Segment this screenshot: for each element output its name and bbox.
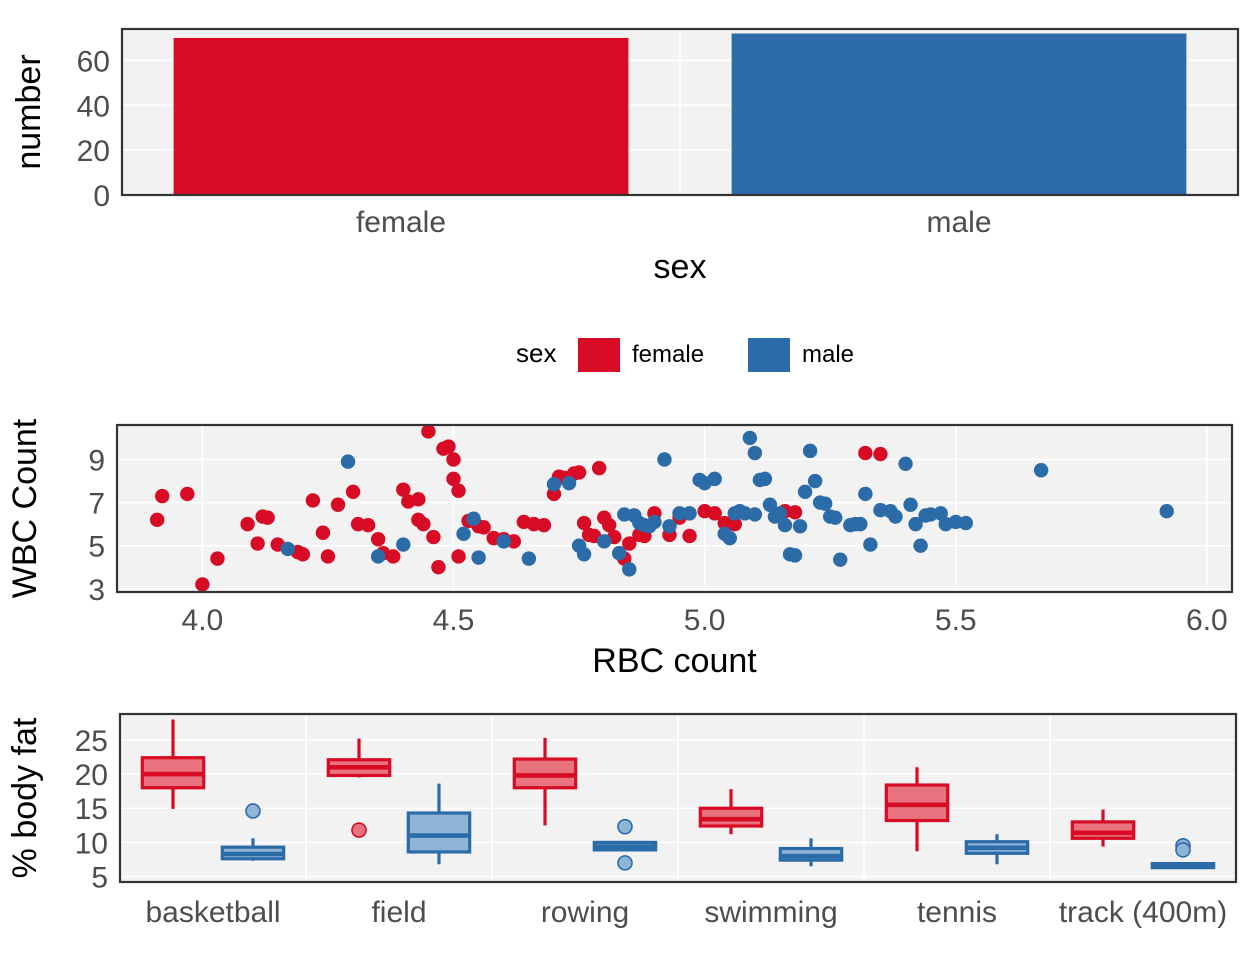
- scatter-x-axis-title: RBC count: [592, 642, 757, 680]
- scatter-point: [321, 549, 335, 563]
- scatter-point: [853, 517, 867, 531]
- scatter-point: [281, 542, 295, 556]
- scatter-point: [913, 538, 927, 552]
- scatter-point: [707, 472, 721, 486]
- scatter-point: [180, 487, 194, 501]
- scatter-point: [858, 487, 872, 501]
- scatter-point: [959, 516, 973, 530]
- scatter-point: [647, 515, 661, 529]
- scatter-point: [150, 513, 164, 527]
- bar-ytick-40: 40: [77, 90, 110, 123]
- scatter-point: [441, 439, 455, 453]
- scatter-point: [396, 537, 410, 551]
- scatter-chart-panel: 35794.04.55.05.56.0WBC CountRBC count: [0, 395, 1248, 685]
- box-xtick-tennis: tennis: [917, 896, 997, 929]
- scatter-point: [828, 510, 842, 524]
- scatter-point: [316, 526, 330, 540]
- bar-chart-panel: femalemale0204060numbersex: [0, 0, 1248, 290]
- scatter-point: [1160, 504, 1174, 518]
- legend-label-male: male: [802, 341, 854, 368]
- scatter-point: [1034, 463, 1048, 477]
- scatter-point: [371, 532, 385, 546]
- scatter-point: [682, 529, 696, 543]
- scatter-xtick-6.0: 6.0: [1186, 604, 1228, 637]
- scatter-point: [562, 476, 576, 490]
- box-xtick-rowing: rowing: [541, 896, 629, 929]
- scatter-xtick-5.0: 5.0: [684, 604, 726, 637]
- scatter-point: [416, 517, 430, 531]
- scatter-point: [803, 444, 817, 458]
- scatter-point: [331, 498, 345, 512]
- scatter-point: [240, 517, 254, 531]
- scatter-point: [748, 446, 762, 460]
- scatter-point: [341, 454, 355, 468]
- box-outlier: [1176, 843, 1190, 857]
- scatter-point: [466, 512, 480, 526]
- scatter-point: [818, 496, 832, 510]
- scatter-point: [577, 547, 591, 561]
- scatter-point: [657, 452, 671, 466]
- scatter-point: [627, 508, 641, 522]
- box-outlier: [618, 856, 632, 870]
- scatter-point: [411, 492, 425, 506]
- box-xtick-basketball: basketball: [145, 896, 280, 929]
- legend: sexfemalemale: [0, 330, 1248, 390]
- scatter-point: [778, 518, 792, 532]
- box-rect: [408, 813, 469, 852]
- figure-root: femalemale0204060numbersex sexfemalemale…: [0, 0, 1248, 960]
- box-ytick-5: 5: [91, 862, 108, 895]
- bar-male: [732, 33, 1187, 195]
- bar-xtick-male: male: [926, 206, 991, 239]
- box-xtick-track--400m-: track (400m): [1059, 896, 1227, 929]
- scatter-y-axis-title: WBC Count: [6, 418, 44, 598]
- legend-key-male[interactable]: [748, 338, 790, 372]
- scatter-ytick-7: 7: [88, 488, 105, 521]
- bar-ytick-0: 0: [93, 180, 110, 213]
- scatter-point: [250, 536, 264, 550]
- scatter-point: [306, 493, 320, 507]
- scatter-point: [195, 577, 209, 591]
- scatter-point: [431, 560, 445, 574]
- scatter-point: [451, 549, 465, 563]
- bar-xtick-female: female: [356, 206, 446, 239]
- scatter-point: [572, 465, 586, 479]
- scatter-point: [682, 506, 696, 520]
- scatter-xtick-4.0: 4.0: [182, 604, 224, 637]
- box-ytick-20: 20: [75, 759, 108, 792]
- scatter-point: [522, 551, 536, 565]
- scatter-point: [155, 489, 169, 503]
- scatter-point: [863, 537, 877, 551]
- scatter-xtick-4.5: 4.5: [433, 604, 475, 637]
- scatter-point: [903, 498, 917, 512]
- box-ytick-15: 15: [75, 793, 108, 826]
- bar-y-axis-title: number: [10, 54, 48, 169]
- scatter-point: [662, 519, 676, 533]
- box-xtick-swimming: swimming: [704, 896, 837, 929]
- scatter-point: [758, 472, 772, 486]
- box-rect: [1072, 822, 1133, 838]
- boxplot-chart-panel: 510152025basketballfieldrowingswimmingte…: [0, 690, 1248, 960]
- scatter-point: [426, 530, 440, 544]
- scatter-point: [798, 485, 812, 499]
- legend-title: sex: [516, 338, 556, 368]
- bar-x-axis-title: sex: [654, 248, 707, 286]
- scatter-point: [386, 549, 400, 563]
- box-ytick-10: 10: [75, 827, 108, 860]
- box-ytick-25: 25: [75, 725, 108, 758]
- scatter-point: [421, 424, 435, 438]
- bar-ytick-20: 20: [77, 135, 110, 168]
- scatter-point: [592, 461, 606, 475]
- scatter-point: [793, 519, 807, 533]
- box-outlier: [618, 820, 632, 834]
- scatter-point: [788, 505, 802, 519]
- box-y-axis-title: % body fat: [6, 717, 44, 878]
- box-outlier: [246, 804, 260, 818]
- scatter-point: [296, 547, 310, 561]
- scatter-point: [612, 546, 626, 560]
- scatter-point: [622, 562, 636, 576]
- box-outlier: [352, 823, 366, 837]
- bar-female: [174, 38, 629, 195]
- scatter-point: [873, 447, 887, 461]
- scatter-point: [888, 509, 902, 523]
- scatter-ytick-5: 5: [88, 531, 105, 564]
- scatter-point: [858, 446, 872, 460]
- scatter-point: [833, 552, 847, 566]
- scatter-point: [260, 510, 274, 524]
- scatter-point: [788, 548, 802, 562]
- scatter-point: [743, 431, 757, 445]
- scatter-point: [497, 534, 511, 548]
- scatter-point: [210, 551, 224, 565]
- scatter-point: [361, 518, 375, 532]
- scatter-point: [451, 484, 465, 498]
- scatter-point: [918, 508, 932, 522]
- legend-label-female: female: [632, 341, 704, 368]
- scatter-point: [898, 457, 912, 471]
- scatter-point: [748, 507, 762, 521]
- scatter-ytick-9: 9: [88, 444, 105, 477]
- scatter-point: [371, 549, 385, 563]
- bar-ytick-60: 60: [77, 45, 110, 78]
- legend-key-female[interactable]: [578, 338, 620, 372]
- box-xtick-field: field: [371, 896, 426, 929]
- scatter-point: [471, 550, 485, 564]
- scatter-point: [446, 452, 460, 466]
- scatter-xtick-5.5: 5.5: [935, 604, 977, 637]
- scatter-point: [723, 531, 737, 545]
- scatter-point: [808, 474, 822, 488]
- scatter-point: [537, 518, 551, 532]
- scatter-point: [547, 477, 561, 491]
- scatter-point: [597, 534, 611, 548]
- scatter-point: [456, 527, 470, 541]
- scatter-point: [346, 485, 360, 499]
- scatter-ytick-3: 3: [88, 574, 105, 607]
